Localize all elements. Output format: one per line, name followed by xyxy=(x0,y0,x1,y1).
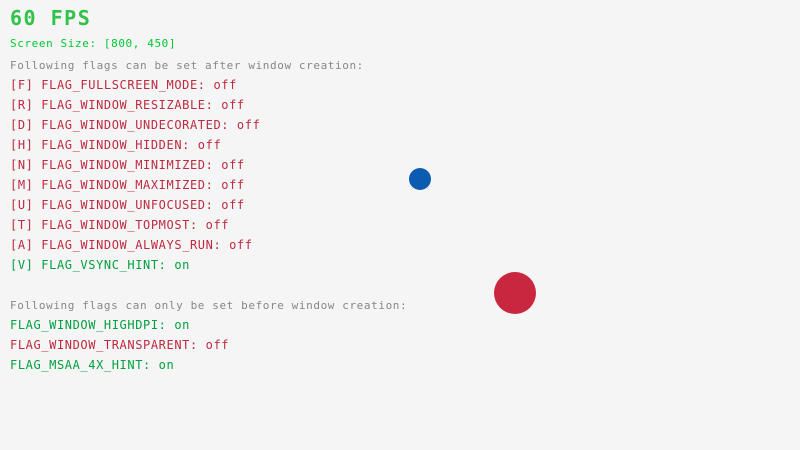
flag-line-flag-window-transparent[interactable]: FLAG_WINDOW_TRANSPARENT: off xyxy=(10,339,229,351)
flag-line-flag-window-resizable[interactable]: [R] FLAG_WINDOW_RESIZABLE: off xyxy=(10,99,245,111)
flag-line-flag-window-undecorated[interactable]: [D] FLAG_WINDOW_UNDECORATED: off xyxy=(10,119,260,131)
runtime-flags-note: Following flags can be set after window … xyxy=(10,60,364,71)
flag-line-flag-window-always-run[interactable]: [A] FLAG_WINDOW_ALWAYS_RUN: off xyxy=(10,239,253,251)
flag-line-flag-window-topmost[interactable]: [T] FLAG_WINDOW_TOPMOST: off xyxy=(10,219,229,231)
blue-ball xyxy=(409,168,431,190)
flag-line-flag-window-unfocused[interactable]: [U] FLAG_WINDOW_UNFOCUSED: off xyxy=(10,199,245,211)
raylib-window-canvas[interactable]: 60 FPS Screen Size: [800, 450] Following… xyxy=(0,0,800,450)
flag-line-flag-vsync-hint[interactable]: [V] FLAG_VSYNC_HINT: on xyxy=(10,259,190,271)
flag-line-flag-window-hidden[interactable]: [H] FLAG_WINDOW_HIDDEN: off xyxy=(10,139,221,151)
flag-line-flag-window-maximized[interactable]: [M] FLAG_WINDOW_MAXIMIZED: off xyxy=(10,179,245,191)
flag-line-flag-window-highdpi[interactable]: FLAG_WINDOW_HIGHDPI: on xyxy=(10,319,190,331)
flag-line-flag-fullscreen-mode[interactable]: [F] FLAG_FULLSCREEN_MODE: off xyxy=(10,79,237,91)
red-ball xyxy=(494,272,536,314)
flag-line-flag-window-minimized[interactable]: [N] FLAG_WINDOW_MINIMIZED: off xyxy=(10,159,245,171)
fps-counter: 60 FPS xyxy=(10,8,91,28)
screen-size-label: Screen Size: [800, 450] xyxy=(10,38,176,49)
flag-line-flag-msaa-4x-hint[interactable]: FLAG_MSAA_4X_HINT: on xyxy=(10,359,174,371)
creation-flags-note: Following flags can only be set before w… xyxy=(10,300,407,311)
